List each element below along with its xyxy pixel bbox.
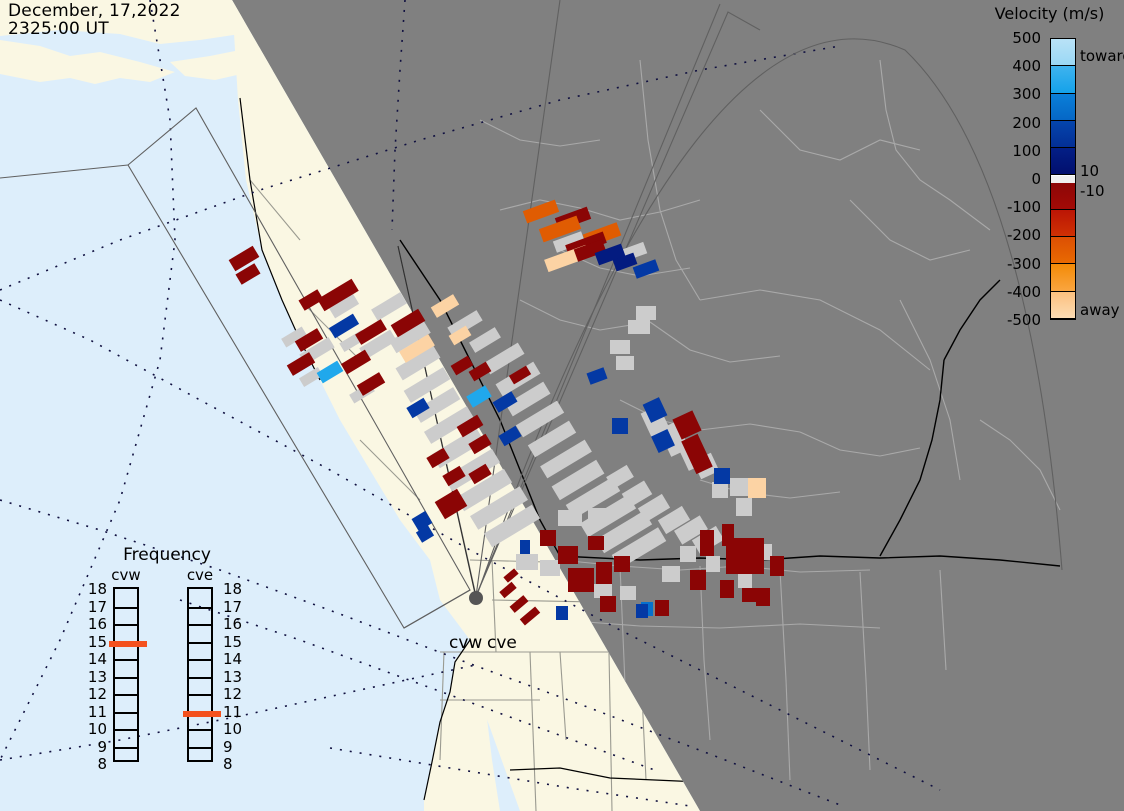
velocity-cell	[568, 568, 594, 592]
radar-label-cvw: cvw	[449, 633, 482, 653]
frequency-column-cvw: cvw 18171615141312111098	[96, 566, 156, 762]
ground-scatter-cell	[558, 510, 582, 526]
ground-scatter-cell	[620, 586, 636, 600]
colorbar-tick-labels: 5004003002001000-100-200-300-400-500	[975, 30, 1045, 330]
colorbar-away-label: away	[1080, 301, 1120, 319]
frequency-tick: 17	[223, 598, 242, 616]
colorbar-tick: -300	[1007, 255, 1041, 273]
velocity-cell	[588, 536, 604, 550]
colorbar-zero-band	[1051, 176, 1075, 183]
ground-scatter-cell	[636, 306, 656, 320]
frequency-tick: 16	[223, 615, 242, 633]
colorbar-tick: 500	[1012, 29, 1041, 47]
timestamp-header: December, 17,2022 2325:00 UT	[8, 2, 181, 38]
frequency-gridline	[189, 624, 211, 626]
colorbar-segment	[1051, 148, 1075, 175]
colorbar-segment	[1051, 121, 1075, 148]
frequency-marker	[109, 641, 147, 647]
frequency-tick: 16	[88, 615, 107, 633]
frequency-gridline	[115, 677, 137, 679]
colorbar-tick: 400	[1012, 57, 1041, 75]
colorbar-tick: -400	[1007, 283, 1041, 301]
frequency-gridline	[189, 677, 211, 679]
date-label: December, 17,2022	[8, 1, 181, 21]
frequency-gridline	[115, 694, 137, 696]
velocity-cell	[748, 478, 766, 498]
frequency-gridline	[115, 712, 137, 714]
frequency-tick: 11	[223, 703, 242, 721]
ground-scatter-cell	[616, 356, 634, 370]
colorbar-segment	[1051, 39, 1075, 66]
ground-scatter-cell	[588, 508, 608, 522]
ground-scatter-cell	[628, 320, 650, 334]
ground-scatter-cell	[516, 554, 538, 570]
frequency-gridline	[189, 659, 211, 661]
frequency-gridline	[115, 729, 137, 731]
frequency-tick: 10	[88, 720, 107, 738]
frequency-box-cve: 18171615141312111098	[187, 587, 213, 762]
colorbar-segment	[1051, 264, 1075, 291]
velocity-cell	[700, 530, 714, 556]
frequency-gridline	[115, 624, 137, 626]
frequency-tick: 13	[223, 668, 242, 686]
velocity-cell	[756, 588, 770, 606]
frequency-tick: 18	[88, 580, 107, 598]
frequency-tick: 15	[88, 633, 107, 651]
frequency-column-label-cve: cve	[170, 566, 230, 584]
frequency-tick: 12	[223, 685, 242, 703]
velocity-cell	[636, 604, 648, 618]
ground-scatter-cell	[730, 478, 748, 496]
frequency-gridline	[189, 642, 211, 644]
frequency-tick: 10	[223, 720, 242, 738]
radar-site-dot	[469, 591, 483, 605]
frequency-gridline	[115, 659, 137, 661]
ground-scatter-cell	[712, 482, 728, 498]
velocity-cell	[690, 570, 706, 590]
ground-scatter-cell	[594, 584, 612, 598]
velocity-colorbar: Velocity (m/s) 5004003002001000-100-200-…	[975, 0, 1124, 340]
frequency-title: Frequency	[92, 545, 242, 565]
frequency-legend: Frequency cvw 18171615141312111098 cve 1…	[92, 545, 242, 790]
velocity-cell	[596, 562, 612, 584]
colorbar-segment	[1051, 210, 1075, 237]
colorbar-tick: -200	[1007, 226, 1041, 244]
colorbar-segment	[1051, 183, 1075, 210]
frequency-tick: 13	[88, 668, 107, 686]
frequency-column-cve: cve 18171615141312111098	[170, 566, 230, 762]
ground-scatter-cell	[736, 498, 752, 516]
frequency-tick: 9	[223, 738, 233, 756]
ground-scatter-cell	[706, 556, 720, 572]
frequency-tick: 17	[88, 598, 107, 616]
colorbar-tick: 200	[1012, 114, 1041, 132]
colorbar-segment	[1051, 292, 1075, 319]
superdarn-map-root: December, 17,2022 2325:00 UT cvw cve Vel…	[0, 0, 1124, 811]
frequency-tick: 8	[97, 755, 107, 773]
colorbar-side-labels: toward10-10away	[1078, 30, 1124, 330]
frequency-gridline	[115, 607, 137, 609]
frequency-box-cvw: 18171615141312111098	[113, 587, 139, 762]
frequency-tick: 8	[223, 755, 233, 773]
frequency-marker	[183, 711, 221, 717]
velocity-cell	[770, 556, 784, 576]
colorbar-neg-threshold-label: -10	[1080, 182, 1105, 200]
velocity-cell	[556, 606, 568, 620]
velocity-cell	[540, 530, 556, 546]
velocity-cell	[726, 538, 764, 574]
frequency-tick: 12	[88, 685, 107, 703]
ground-scatter-cell	[540, 560, 560, 576]
colorbar-segment	[1051, 237, 1075, 264]
colorbar-tick: 100	[1012, 142, 1041, 160]
frequency-tick: 9	[97, 738, 107, 756]
frequency-tick: 14	[223, 650, 242, 668]
radar-label-cve: cve	[487, 633, 517, 653]
frequency-gridline	[189, 607, 211, 609]
frequency-gridline	[189, 694, 211, 696]
colorbar-tick: 300	[1012, 85, 1041, 103]
velocity-cell	[720, 580, 734, 598]
velocity-cell	[612, 418, 628, 434]
ground-scatter-cell	[610, 340, 630, 354]
frequency-tick: 15	[223, 633, 242, 651]
frequency-gridline	[189, 729, 211, 731]
colorbar-tick: 0	[1031, 170, 1041, 188]
frequency-tick: 18	[223, 580, 242, 598]
velocity-cell	[520, 540, 530, 554]
ground-scatter-cell	[680, 546, 696, 562]
colorbar-title: Velocity (m/s)	[975, 4, 1124, 23]
frequency-gridline	[189, 747, 211, 749]
colorbar-tick: -100	[1007, 198, 1041, 216]
velocity-cell	[558, 546, 578, 564]
colorbar-pos-threshold-label: 10	[1080, 162, 1099, 180]
ground-scatter-cell	[738, 572, 752, 588]
frequency-gridline	[115, 747, 137, 749]
frequency-tick: 11	[88, 703, 107, 721]
velocity-cell	[600, 596, 616, 612]
time-label: 2325:00 UT	[8, 19, 109, 39]
colorbar-segment	[1051, 94, 1075, 121]
colorbar-toward-label: toward	[1080, 47, 1124, 65]
colorbar-segment	[1051, 66, 1075, 93]
colorbar-tick: -500	[1007, 311, 1041, 329]
colorbar-gradient	[1050, 38, 1076, 320]
velocity-cell	[714, 468, 730, 484]
velocity-cell	[655, 600, 669, 616]
ground-scatter-cell	[662, 566, 680, 582]
velocity-cell	[614, 556, 630, 572]
frequency-tick: 14	[88, 650, 107, 668]
velocity-cell	[742, 588, 756, 602]
